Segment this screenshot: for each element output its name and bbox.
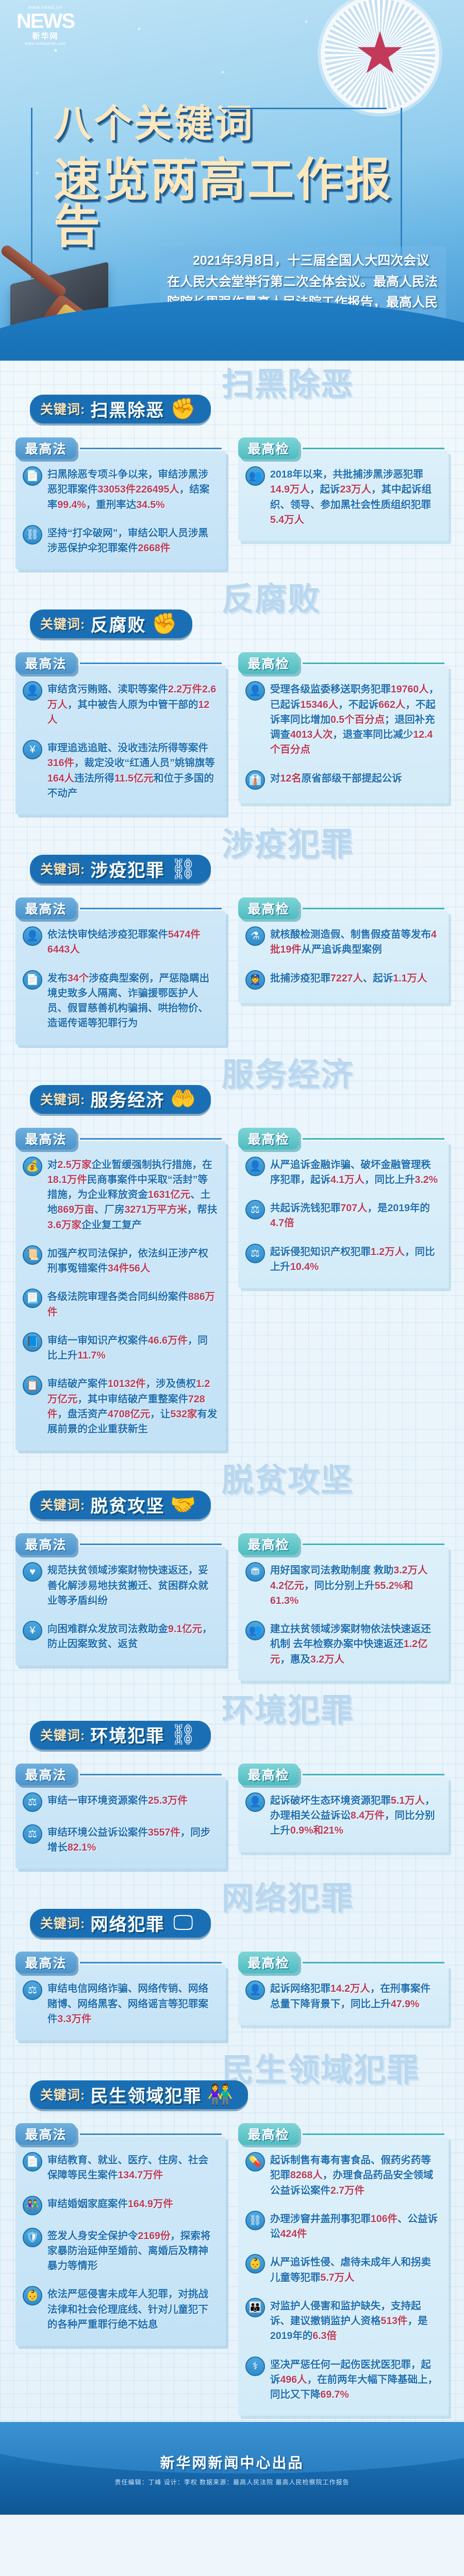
court-column: 最高法👤审结贪污贿赂、渎职等案件2.2万件2.6万人，其中被告人原为中管干部的1… <box>15 652 226 815</box>
bullet-text: 审结一审知识产权案件46.6万件，同比上升11.7% <box>47 1332 218 1364</box>
stat-text: 就核酸检测造假、制售假疫苗等发布 <box>270 929 431 940</box>
stat-number: 2169份 <box>138 2230 171 2242</box>
stat-number: 82.1% <box>68 1842 96 1853</box>
footer-credits: 责任编辑：丁峰 设计：李权 数据来源：最高人民法院 最高人民检察院工作报告 <box>0 2478 464 2486</box>
bullet-item: ⛓坚持“打伞破网”，审结公职人员涉黑涉恶保护伞犯罪案件2668件 <box>23 525 218 556</box>
stat-text: 坚持“打伞破网”，审结公职人员涉黑涉恶保护伞犯罪案件 <box>47 528 208 554</box>
procuratorate-column: 最高检⚗就核酸检测造假、制售假疫苗等发布4批19件从严追诉典型案例👮批捕涉疫犯罪… <box>238 897 449 1003</box>
bullet-item: 👤受理各级监委移送职务犯罪19760人，已起诉15346人，不起诉662人，不起… <box>245 681 440 757</box>
keyword-prefix-label: 关键词: <box>40 2085 85 2104</box>
handcuffs-icon: ⛓ <box>23 525 42 545</box>
stat-text: 受理各级监委移送职务犯罪 <box>270 684 391 695</box>
court-column-header: 最高法 <box>15 2123 76 2145</box>
court-column: 最高法📄审结教育、就业、医疗、住房、社会保障等民生案件134.7万件👫审结婚姻家… <box>15 2123 226 2346</box>
court-column: 最高法💰对2.5万家企业暂缓强制执行措施，在18.1万件民商事案件中采取“活封”… <box>15 1128 226 1451</box>
bullet-text: 受理各级监委移送职务犯罪19760人，已起诉15346人，不起诉662人，不起诉… <box>270 681 440 757</box>
stat-number: 134.7万件 <box>118 2170 163 2181</box>
person-icon: 👤 <box>23 681 42 701</box>
stat-text: 审结环境公益诉讼案件 <box>47 1827 148 1838</box>
procuratorate-column: 最高检👤起诉破坏生态环境资源犯罪5.1万人，办理相关公益诉讼8.4万件，同比分别… <box>238 1764 449 1852</box>
bullet-text: 共起诉洗钱犯罪707人，是2019年的4.7倍 <box>270 1200 440 1231</box>
bullet-text: 就核酸检测造假、制售假疫苗等发布4批19件从严追诉典型案例 <box>270 926 440 958</box>
keyword-header: 涉疫犯罪关键词:涉疫犯罪⛓ <box>0 823 464 897</box>
hero-banner: www.news.cn NEWS 新华网 www.xinhuanet.com 八… <box>0 0 464 361</box>
keyword-prefix-label: 关键词: <box>40 1495 85 1514</box>
stat-number: 99.4% <box>58 499 86 511</box>
bullet-item: 👪对监护人侵害和监护缺失，支持起诉、建议撤销监护人资格513件，是2019年的6… <box>245 2298 440 2344</box>
keyword-pill[interactable]: 关键词:环境犯罪⛓ <box>30 1721 211 1750</box>
bullet-item: 🛡签发人身安全保护令2169份，探索将家暴防治延伸至婚前、离婚后及精神暴力等情形 <box>23 2228 218 2274</box>
bullet-item: 📄发布34个涉疫典型案例，严惩隐瞒出境史致多人隔离、诈骗援鄂医护人员、假冒慈善机… <box>23 970 218 1031</box>
court-column-card: ⚖审结电信网络诈骗、网络传销、网络赌博、网络黑客、网络谣言等犯罪案件3.3万件 <box>15 1965 226 2040</box>
xinhuanet-logo: www.news.cn NEWS 新华网 www.xinhuanet.com <box>14 5 76 46</box>
bullet-item: 📘审结一审知识产权案件46.6万件，同比上升11.7% <box>23 1332 218 1364</box>
stat-text: 从严追诉典型案例 <box>302 944 382 955</box>
procuratorate-column-card: 💊起诉制售有毒有害食品、假药劣药等犯罪8268人，办理食品药品安全领域公益诉讼案… <box>238 2137 449 2416</box>
bullet-item: 👤起诉破坏生态环境资源犯罪5.1万人，办理相关公益诉讼8.4万件，同比分别上升0… <box>245 1792 440 1839</box>
stat-text: 审理追逃追赃、没收违法所得等案件 <box>47 742 208 754</box>
person-icon: 👤 <box>245 1157 265 1176</box>
fist-icon: ✊ <box>151 610 178 637</box>
bullet-item: 📃各级法院审理各类合同纠纷案件886万件 <box>23 1289 218 1320</box>
header-rule <box>303 1138 444 1140</box>
stat-number: 2.7万件 <box>330 2185 364 2196</box>
stat-text: ，起诉 <box>310 484 340 495</box>
hand-support-icon: 🤲 <box>170 1086 196 1112</box>
two-column-body: 最高法👤依法快审快结涉疫犯罪案件5474件6443人📄发布34个涉疫典型案例，严… <box>0 897 464 1045</box>
two-column-body: 最高法♥规范扶贫领域涉案财物快速返还，妥善化解涉易地扶贫搬迁、贫困群众就业等矛盾… <box>0 1533 464 1681</box>
page-footer: 新华网新闻中心出品 责任编辑：丁峰 设计：李权 数据来源：最高人民法院 最高人民… <box>0 2422 464 2515</box>
keyword-header: 网络犯罪关键词:网络犯罪🖵 <box>0 1877 464 1952</box>
stat-number: 869万亩 <box>58 1204 95 1215</box>
keyword-pill[interactable]: 关键词:民生领域犯罪👫 <box>30 2080 248 2109</box>
bullet-text: 签发人身安全保护令2169份，探索将家暴防治延伸至婚前、离婚后及精神暴力等情形 <box>47 2228 218 2274</box>
pill-icon: 💊 <box>245 2152 265 2172</box>
header-rule <box>80 1774 222 1775</box>
hero-title-block: 八个关键词 速览两高工作报告 <box>31 90 402 255</box>
keyword-pill[interactable]: 关键词:网络犯罪🖵 <box>30 1909 211 1938</box>
court-column-card: 📄扫黑除恶专项斗争以来，审结涉黑涉恶犯罪案件33053件226495人，结案率9… <box>15 451 226 569</box>
keyword-section-4: 服务经济关键词:服务经济🤲最高法💰对2.5万家企业暂缓强制执行措施，在18.1万… <box>0 1051 464 1457</box>
stat-text: 发布 <box>47 973 68 984</box>
bullet-item: 👔对12名原省部级干部提起公诉 <box>245 770 440 790</box>
procuratorate-column-header: 最高检 <box>238 1128 299 1149</box>
stat-text: 共起诉洗钱犯罪 <box>270 1202 341 1214</box>
logo-url-top: www.news.cn <box>14 5 76 10</box>
bullet-text: 扫黑除恶专项斗争以来，审结涉黑涉恶犯罪案件33053件226495人，结案率99… <box>47 466 218 513</box>
court-column: 最高法📄扫黑除恶专项斗争以来，审结涉黑涉恶犯罪案件33053件226495人，结… <box>15 437 226 569</box>
stat-text: ，涉及债权 <box>146 1378 196 1389</box>
bullet-text: 审结破产案件10132件，涉及债权1.2万亿元，其中审结破产重整案件728件，盘… <box>47 1376 218 1437</box>
court-column-header: 最高法 <box>15 897 76 919</box>
page-title-line2: 速览两高工作报告 <box>54 157 402 250</box>
stat-number: 5.7万人 <box>321 2272 355 2283</box>
stat-number: 5.4万人 <box>270 514 304 526</box>
keyword-pill[interactable]: 关键词:服务经济🤲 <box>30 1085 211 1114</box>
stat-text: 审结贪污贿赂、渎职等案件 <box>47 684 168 695</box>
stat-text: 起诉破坏生态环境资源犯罪 <box>270 1795 391 1806</box>
stat-number: 7227人 <box>330 973 363 984</box>
bullet-text: 审结教育、就业、医疗、住房、社会保障等民生案件134.7万件 <box>47 2152 218 2183</box>
people-group-icon: 👥 <box>245 1621 265 1640</box>
procuratorate-column-header: 最高检 <box>238 1764 299 1785</box>
bullet-text: 审结一审环境资源案件25.3万件 <box>47 1792 188 1808</box>
bullet-text: 用好国家司法救助制度 救助3.2万人4.2亿元，同比分别上升55.2%和61.3… <box>270 1562 440 1608</box>
keyword-ghost-text: 民生领域犯罪 <box>222 2055 420 2087</box>
keyword-header: 反腐败关键词:反腐败✊ <box>0 578 464 652</box>
stat-number: 1.2万人 <box>371 1246 405 1258</box>
bullet-item: 👥2018年以来，共批捕涉黑涉恶犯罪14.9万人，起诉23万人，其中起诉组织、领… <box>245 466 440 528</box>
stat-number: 513件 <box>381 2315 408 2327</box>
stat-text: ，裁定没收“红通人员”姚锦旗等 <box>74 757 215 769</box>
bullet-item: ¥向困难群众发放司法救助金9.1亿元，防止因案致贫、返贫 <box>23 1621 218 1652</box>
child-icon: 👶 <box>23 2286 42 2306</box>
stat-number: 14.9万人 <box>270 484 310 495</box>
stat-number: 4.7倍 <box>270 1217 294 1229</box>
bullet-item: ⚕坚决严惩任何一起伤医扰医犯罪，起诉496人，在前两年大幅下降基础上，同比又下降… <box>245 2357 440 2403</box>
bullet-item: 👫审结婚姻家庭案件164.9万件 <box>23 2196 218 2215</box>
stat-number: 3557件 <box>148 1827 180 1838</box>
bullet-text: 审结贪污贿赂、渎职等案件2.2万件2.6万人，其中被告人原为中管干部的12人 <box>47 681 218 727</box>
stat-number: 3271万平方米 <box>125 1204 187 1215</box>
stat-text: ，惠及 <box>280 1654 311 1665</box>
court-column-card: ⚖审结一审环境资源案件25.3万件⚖审结环境公益诉讼案件3557件，同步增长82… <box>15 1777 226 1869</box>
stat-number: 5.1万人 <box>391 1795 425 1806</box>
stat-number: 2.5万家 <box>58 1159 92 1171</box>
bullet-item: ⚖审结一审环境资源案件25.3万件 <box>23 1792 218 1812</box>
bullet-item: ⚖审结电信网络诈骗、网络传销、网络赌博、网络黑客、网络谣言等犯罪案件3.3万件 <box>23 1980 218 2027</box>
keyword-prefix-label: 关键词: <box>40 1725 85 1744</box>
stat-number: 46.6万件 <box>148 1335 188 1346</box>
people-handcuffs-icon: 👫 <box>207 2081 234 2108</box>
stat-number: 12名 <box>280 773 302 784</box>
stat-text: ，盘活资产 <box>58 1409 108 1420</box>
bullet-text: 依法快审快结涉疫犯罪案件5474件6443人 <box>47 926 218 958</box>
procuratorate-column-card: 👤起诉破坏生态环境资源犯罪5.1万人，办理相关公益诉讼8.4万件，同比分别上升0… <box>238 1777 449 1852</box>
bullet-text: 坚持“打伞破网”，审结公职人员涉黑涉恶保护伞犯罪案件2668件 <box>47 525 218 556</box>
bullet-text: 审结环境公益诉讼案件3557件，同步增长82.1% <box>47 1824 218 1856</box>
stat-number: 14.2万人 <box>330 1983 370 1994</box>
stat-number: 164.9万件 <box>128 2198 173 2210</box>
stat-number: 4.1万人 <box>330 1174 364 1185</box>
stat-number: 34个 <box>68 973 89 984</box>
keyword-section-3: 涉疫犯罪关键词:涉疫犯罪⛓最高法👤依法快审快结涉疫犯罪案件5474件6443人📄… <box>0 821 464 1051</box>
header-rule <box>80 1544 222 1545</box>
stat-text: 规范扶贫领域涉案财物快速返还，妥善化解涉易地扶贫搬迁、贫困群众就业等矛盾纠纷 <box>47 1565 208 1606</box>
stat-text: 办理涉窨井盖刑事犯罪 <box>270 2213 371 2225</box>
people-group-icon: 👥 <box>245 466 265 486</box>
stat-text: 审结一审知识产权案件 <box>47 1335 148 1346</box>
keyword-value: 涉疫犯罪 <box>90 856 164 882</box>
two-column-body: 最高法📄审结教育、就业、医疗、住房、社会保障等民生案件134.7万件👫审结婚姻家… <box>0 2123 464 2416</box>
stat-number: 4708亿元 <box>108 1409 150 1420</box>
stat-number: 6.3倍 <box>312 2330 337 2342</box>
court-column: 最高法♥规范扶贫领域涉案财物快速返还，妥善化解涉易地扶贫搬迁、贫困群众就业等矛盾… <box>15 1533 226 1665</box>
stat-text: 用好国家司法救助制度 救助 <box>270 1565 393 1576</box>
stat-number: 2668件 <box>138 543 171 554</box>
bullet-item: 📜加强产权司法保护，依法纠正涉产权刑事冤错案件34件56人 <box>23 1245 218 1277</box>
stat-number: 0.9%和21% <box>290 1825 343 1836</box>
bullet-item: ♥规范扶贫领域涉案财物快速返还，妥善化解涉易地扶贫搬迁、贫困群众就业等矛盾纠纷 <box>23 1562 218 1608</box>
stat-text: 起诉网络犯罪 <box>270 1983 330 1994</box>
keyword-header: 扫黑除恶关键词:扫黑除恶✊ <box>0 363 464 437</box>
bullet-text: 坚决严惩任何一起伤医扰医犯罪，起诉496人，在前两年大幅下降基础上，同比又下降6… <box>270 2357 440 2403</box>
bullet-item: 📄审结教育、就业、医疗、住房、社会保障等民生案件134.7万件 <box>23 2152 218 2183</box>
court-column-header: 最高法 <box>15 1952 76 1973</box>
court-column-card: 💰对2.5万家企业暂缓强制执行措施，在18.1万件民商事案件中采取“活封”等措施… <box>15 1141 226 1451</box>
stat-number: 106件 <box>371 2213 397 2225</box>
stat-text: ，是2019年的 <box>368 1202 430 1214</box>
header-rule <box>80 2133 222 2135</box>
bullet-item: 👮批捕涉疫犯罪7227人、起诉1.1万人 <box>245 970 440 990</box>
keyword-ghost-text: 网络犯罪 <box>222 1883 354 1915</box>
stat-number: 3.6万家 <box>47 1219 81 1231</box>
header-rule <box>80 1962 222 1963</box>
stat-text: 签发人身安全保护令 <box>47 2230 138 2242</box>
bullet-text: 对2.5万家企业暂缓强制执行措施，在18.1万件民商事案件中采取“活封”等措施，… <box>47 1157 218 1233</box>
stat-number: 34.5% <box>136 499 164 511</box>
bullet-item: ¥审理追逃追赃、没收违法所得等案件316件，裁定没收“红通人员”姚锦旗等164人… <box>23 740 218 801</box>
stat-number: 8.4万件 <box>351 1810 385 1821</box>
keyword-prefix-label: 关键词: <box>40 859 85 878</box>
stat-number: 10.4% <box>290 1261 319 1273</box>
logo-mark: NEWS <box>14 11 76 31</box>
court-column: 最高法⚖审结一审环境资源案件25.3万件⚖审结环境公益诉讼案件3557件，同步增… <box>15 1764 226 1869</box>
procuratorate-column-card: 👤受理各级监委移送职务犯罪19760人，已起诉15346人，不起诉662人，不起… <box>238 666 449 803</box>
bullet-text: 审理追逃追赃、没收违法所得等案件316件，裁定没收“红通人员”姚锦旗等164人违… <box>47 740 218 801</box>
person-icon: 👤 <box>245 681 265 701</box>
money-seal-icon: ¥ <box>23 740 42 759</box>
bullet-text: 依法严惩侵害未成年人犯罪，对挑战法律和社会伦理底线、针对儿童犯下的各种严重罪行绝… <box>47 2286 218 2332</box>
stat-number: 11.5亿元 <box>114 773 154 784</box>
stat-number: 3.2万人 <box>310 1654 344 1665</box>
two-column-body: 最高法👤审结贪污贿赂、渎职等案件2.2万件2.6万人，其中被告人原为中管干部的1… <box>0 652 464 815</box>
stat-text: ，重刑率达 <box>86 499 137 511</box>
keyword-value: 脱贫攻坚 <box>90 1492 164 1517</box>
procuratorate-column-card: 👤从严追诉金融诈骗、破坏金融管理秩序犯罪，起诉4.1万人，同比上升3.2%⚖共起… <box>238 1141 449 1289</box>
bullet-item: 📄扫黑除恶专项斗争以来，审结涉黑涉恶犯罪案件33053件226495人，结案率9… <box>23 466 218 513</box>
keyword-section-5: 脱贫攻坚关键词:脱贫攻坚🤝最高法♥规范扶贫领域涉案财物快速返还，妥善化解涉易地扶… <box>0 1456 464 1687</box>
keyword-pill[interactable]: 关键词:扫黑除恶✊ <box>30 395 211 423</box>
stat-text: ，让 <box>150 1409 170 1420</box>
court-column-card: 👤审结贪污贿赂、渎职等案件2.2万件2.6万人，其中被告人原为中管干部的12人¥… <box>15 666 226 815</box>
procuratorate-column-header: 最高检 <box>238 2123 299 2145</box>
stat-number: 47.9% <box>391 1998 419 2010</box>
stat-number: 25.3万件 <box>148 1795 188 1806</box>
stat-text: 原省部级干部提起公诉 <box>302 773 402 784</box>
stat-text: 、厂房 <box>94 1204 125 1215</box>
keyword-value: 环境犯罪 <box>90 1722 164 1747</box>
header-rule <box>303 908 444 909</box>
gavel-icon: ⚖ <box>23 1824 42 1844</box>
stat-number: 33053件226495人 <box>98 484 179 495</box>
stat-number: 11.7% <box>78 1350 106 1361</box>
procuratorate-column-header: 最高检 <box>238 897 299 919</box>
bullet-text: 规范扶贫领域涉案财物快速返还，妥善化解涉易地扶贫搬迁、贫困群众就业等矛盾纠纷 <box>47 1562 218 1608</box>
court-column-header: 最高法 <box>15 1128 76 1149</box>
header-rule <box>80 448 222 449</box>
court-column-card: 📄审结教育、就业、医疗、住房、社会保障等民生案件134.7万件👫审结婚姻家庭案件… <box>15 2137 226 2346</box>
court-column-header: 最高法 <box>15 437 76 459</box>
stat-text: 审结婚姻家庭案件 <box>47 2198 128 2210</box>
person-icon: 👤 <box>245 1792 265 1812</box>
bullet-item: 👤审结贪污贿赂、渎职等案件2.2万件2.6万人，其中被告人原为中管干部的12人 <box>23 681 218 727</box>
keyword-prefix-label: 关键词: <box>40 614 85 633</box>
keyword-section-2: 反腐败关键词:反腐败✊最高法👤审结贪污贿赂、渎职等案件2.2万件2.6万人，其中… <box>0 575 464 821</box>
stat-text: 各级法院审理各类合同纠纷案件 <box>47 1291 188 1302</box>
keyword-value: 民生领域犯罪 <box>90 2082 202 2107</box>
doctor-icon: ⚕ <box>245 2357 265 2376</box>
report-icon: 📋 <box>23 1376 42 1395</box>
stat-text: 向困难群众发放司法救助金 <box>47 1623 168 1635</box>
stat-number: 1631亿元 <box>148 1189 190 1200</box>
stat-number: 0.5个百分点 <box>330 714 385 725</box>
bullet-text: 审结电信网络诈骗、网络传销、网络赌博、网络黑客、网络谣言等犯罪案件3.3万件 <box>47 1980 218 2027</box>
court-column-header: 最高法 <box>15 1764 76 1785</box>
procuratorate-column-header: 最高检 <box>238 1952 299 1973</box>
procuratorate-column-card: ⛃用好国家司法救助制度 救助3.2万人4.2亿元，同比分别上升55.2%和61.… <box>238 1547 449 1681</box>
bullet-item: 👤从严追诉金融诈骗、破坏金融管理秩序犯罪，起诉4.1万人，同比上升3.2% <box>245 1157 440 1188</box>
two-column-body: 最高法⚖审结电信网络诈骗、网络传销、网络赌博、网络黑客、网络谣言等犯罪案件3.3… <box>0 1952 464 2040</box>
child-icon: 👶 <box>245 2254 265 2274</box>
stat-number: 3.2% <box>415 1174 438 1185</box>
bullet-item: 👤依法快审快结涉疫犯罪案件5474件6443人 <box>23 926 218 958</box>
header-rule <box>303 663 444 664</box>
stat-number: 1.1万人 <box>393 973 427 984</box>
keyword-header: 民生领域犯罪关键词:民生领域犯罪👫 <box>0 2048 464 2123</box>
contract-icon: 📜 <box>23 1245 42 1265</box>
bullet-item: ⚖共起诉洗钱犯罪707人，是2019年的4.7倍 <box>245 1200 440 1231</box>
vial-icon: ⚗ <box>245 926 265 946</box>
stat-number: 15346人 <box>301 699 339 710</box>
stat-number: 4013人次 <box>290 729 333 740</box>
fist-icon: ✊ <box>170 395 196 422</box>
header-rule <box>303 2133 444 2135</box>
header-rule <box>80 1138 222 1140</box>
stat-text: ，其中被告人原为中管干部的 <box>68 699 198 710</box>
stat-text: 企业暂缓强制执行措施，在 <box>92 1159 212 1171</box>
document-icon: 📄 <box>23 970 42 990</box>
header-rule <box>80 663 222 664</box>
arrest-icon: 👮 <box>245 970 265 990</box>
header-rule <box>80 908 222 909</box>
procuratorate-column: 最高检⛃用好国家司法救助制度 救助3.2万人4.2亿元，同比分别上升55.2%和… <box>238 1533 449 1681</box>
bullet-text: 审结婚姻家庭案件164.9万件 <box>47 2196 173 2212</box>
keyword-prefix-label: 关键词: <box>40 399 85 418</box>
court-column-header: 最高法 <box>15 1533 76 1555</box>
heart-icon: ♥ <box>23 1562 42 1582</box>
keyword-value: 网络犯罪 <box>90 1910 164 1936</box>
stat-text: ，同比分别上升 <box>304 1580 375 1591</box>
stat-number: 19760人 <box>391 684 429 695</box>
handcuffs-icon: ⛓ <box>170 1721 196 1748</box>
bullet-item: ⛓办理涉窨井盖刑事犯罪106件、公益诉讼424件 <box>245 2211 440 2242</box>
bullet-text: 各级法院审理各类合同纠纷案件886万件 <box>47 1289 218 1320</box>
bullet-item: 👶从严追诉性侵、虐待未成年人和拐卖儿童等犯罪5.7万人 <box>245 2254 440 2285</box>
keyword-section-8: 民生领域犯罪关键词:民生领域犯罪👫最高法📄审结教育、就业、医疗、住房、社会保障等… <box>0 2046 464 2422</box>
stat-number: 8268人 <box>290 2170 323 2181</box>
bullet-item: 📋审结破产案件10132件，涉及债权1.2万亿元，其中审结破产重整案件728件，… <box>23 1376 218 1437</box>
monitor-icon: 🖵 <box>170 1909 196 1936</box>
bullet-text: 批捕涉疫犯罪7227人、起诉1.1万人 <box>270 970 427 986</box>
family-icon: 👪 <box>245 2298 265 2317</box>
couple-icon: 👫 <box>23 2196 42 2215</box>
handshake-icon: 🤝 <box>170 1491 196 1518</box>
stat-text: 批捕涉疫犯罪 <box>270 973 330 984</box>
stat-number: 532家 <box>170 1409 197 1420</box>
court-column-card: ♥规范扶贫领域涉案财物快速返还，妥善化解涉易地扶贫搬迁、贫困群众就业等矛盾纠纷¥… <box>15 1547 226 1665</box>
bullet-text: 从严追诉性侵、虐待未成年人和拐卖儿童等犯罪5.7万人 <box>270 2254 440 2285</box>
bullet-item: 👶依法严惩侵害未成年人犯罪，对挑战法律和社会伦理底线、针对儿童犯下的各种严重罪行… <box>23 2286 218 2332</box>
keyword-value: 扫黑除恶 <box>90 396 164 421</box>
keyword-section-7: 网络犯罪关键词:网络犯罪🖵最高法⚖审结电信网络诈骗、网络传销、网络赌博、网络黑客… <box>0 1875 464 2046</box>
keyword-header: 脱贫攻坚关键词:脱贫攻坚🤝 <box>0 1459 464 1533</box>
stat-number: 496人 <box>280 2374 307 2385</box>
procuratorate-column-header: 最高检 <box>238 652 299 674</box>
keyword-pill[interactable]: 关键词:涉疫犯罪⛓ <box>30 855 211 884</box>
book-icon: 📘 <box>23 1332 42 1352</box>
bullet-text: 办理涉窨井盖刑事犯罪106件、公益诉讼424件 <box>270 2211 440 2242</box>
shield-hand-icon: 🛡 <box>23 2228 42 2247</box>
procuratorate-column: 最高检💊起诉制售有毒有害食品、假药劣药等犯罪8268人，办理食品药品安全领域公益… <box>238 2123 449 2416</box>
stat-number: 9.1亿元 <box>168 1623 202 1635</box>
bullet-text: 向困难群众发放司法救助金9.1亿元，防止因案致贫、返贫 <box>47 1621 218 1652</box>
stat-number: 707人 <box>341 1202 368 1214</box>
coins-icon: ⛃ <box>245 1562 265 1582</box>
two-column-body: 最高法📄扫黑除恶专项斗争以来，审结涉黑涉恶犯罪案件33053件226495人，结… <box>0 437 464 569</box>
keyword-ghost-text: 扫黑除恶 <box>222 369 354 401</box>
bullet-text: 对监护人侵害和监护缺失，支持起诉、建议撤销监护人资格513件，是2019年的6.… <box>270 2298 440 2344</box>
stat-text: 2018年以来，共批捕涉黑涉恶犯罪 <box>270 469 423 480</box>
stat-number: 18.1万件 <box>47 1174 87 1185</box>
keyword-prefix-label: 关键词: <box>40 1090 85 1108</box>
document-icon: 📄 <box>23 2152 42 2172</box>
person-icon: 👤 <box>245 1980 265 2000</box>
stat-text: 起诉侵犯知识产权犯罪 <box>270 1246 371 1258</box>
stat-text: 企业复工复产 <box>81 1219 142 1231</box>
bullet-item: ⚖起诉侵犯知识产权犯罪1.2万人，同比上升10.4% <box>245 1244 440 1275</box>
gavel-icon: ⚖ <box>23 1980 42 2000</box>
stat-text: ，帮扶 <box>187 1204 218 1215</box>
stat-number: 34件56人 <box>108 1263 150 1274</box>
court-column: 最高法👤依法快审快结涉疫犯罪案件5474件6443人📄发布34个涉疫典型案例，严… <box>15 897 226 1045</box>
keyword-pill[interactable]: 关键词:反腐败✊ <box>30 609 192 638</box>
keyword-pill[interactable]: 关键词:脱贫攻坚🤝 <box>30 1490 211 1519</box>
footer-brand: 新华网新闻中心出品 <box>0 2452 464 2472</box>
header-rule <box>303 1962 444 1963</box>
bullet-text: 对12名原省部级干部提起公诉 <box>270 770 402 786</box>
header-rule <box>303 1774 444 1775</box>
stat-text: ，退查率同比减少 <box>333 729 413 740</box>
page-title-line1: 八个关键词 <box>54 105 402 143</box>
procuratorate-column: 最高检👤起诉网络犯罪14.2万人，在刑事案件总量下降背景下，同比上升47.9% <box>238 1952 449 2025</box>
stat-number: 69.7% <box>321 2389 349 2400</box>
document-icon: 📄 <box>23 466 42 486</box>
stat-number: 23万人 <box>340 484 371 495</box>
two-column-body: 最高法⚖审结一审环境资源案件25.3万件⚖审结环境公益诉讼案件3557件，同步增… <box>0 1764 464 1869</box>
bullet-text: 加强产权司法保护，依法纠正涉产权刑事冤错案件34件56人 <box>47 1245 218 1277</box>
two-column-body: 最高法💰对2.5万家企业暂缓强制执行措施，在18.1万件民商事案件中采取“活封”… <box>0 1128 464 1451</box>
gavel-icon: ⚖ <box>23 1792 42 1812</box>
stat-text: 对 <box>47 1159 58 1171</box>
bullet-item: 💊起诉制售有毒有害食品、假药劣药等犯罪8268人，办理食品药品安全领域公益诉讼案… <box>245 2152 440 2198</box>
keyword-header: 环境犯罪关键词:环境犯罪⛓ <box>0 1689 464 1764</box>
stat-text: ，不起诉 <box>338 699 378 710</box>
stat-text: 、起诉 <box>363 973 393 984</box>
bullet-item: 💰对2.5万家企业暂缓强制执行措施，在18.1万件民商事案件中采取“活封”等措施… <box>23 1157 218 1233</box>
stat-text: 审结破产案件 <box>47 1378 108 1389</box>
wave-decor <box>0 259 464 361</box>
